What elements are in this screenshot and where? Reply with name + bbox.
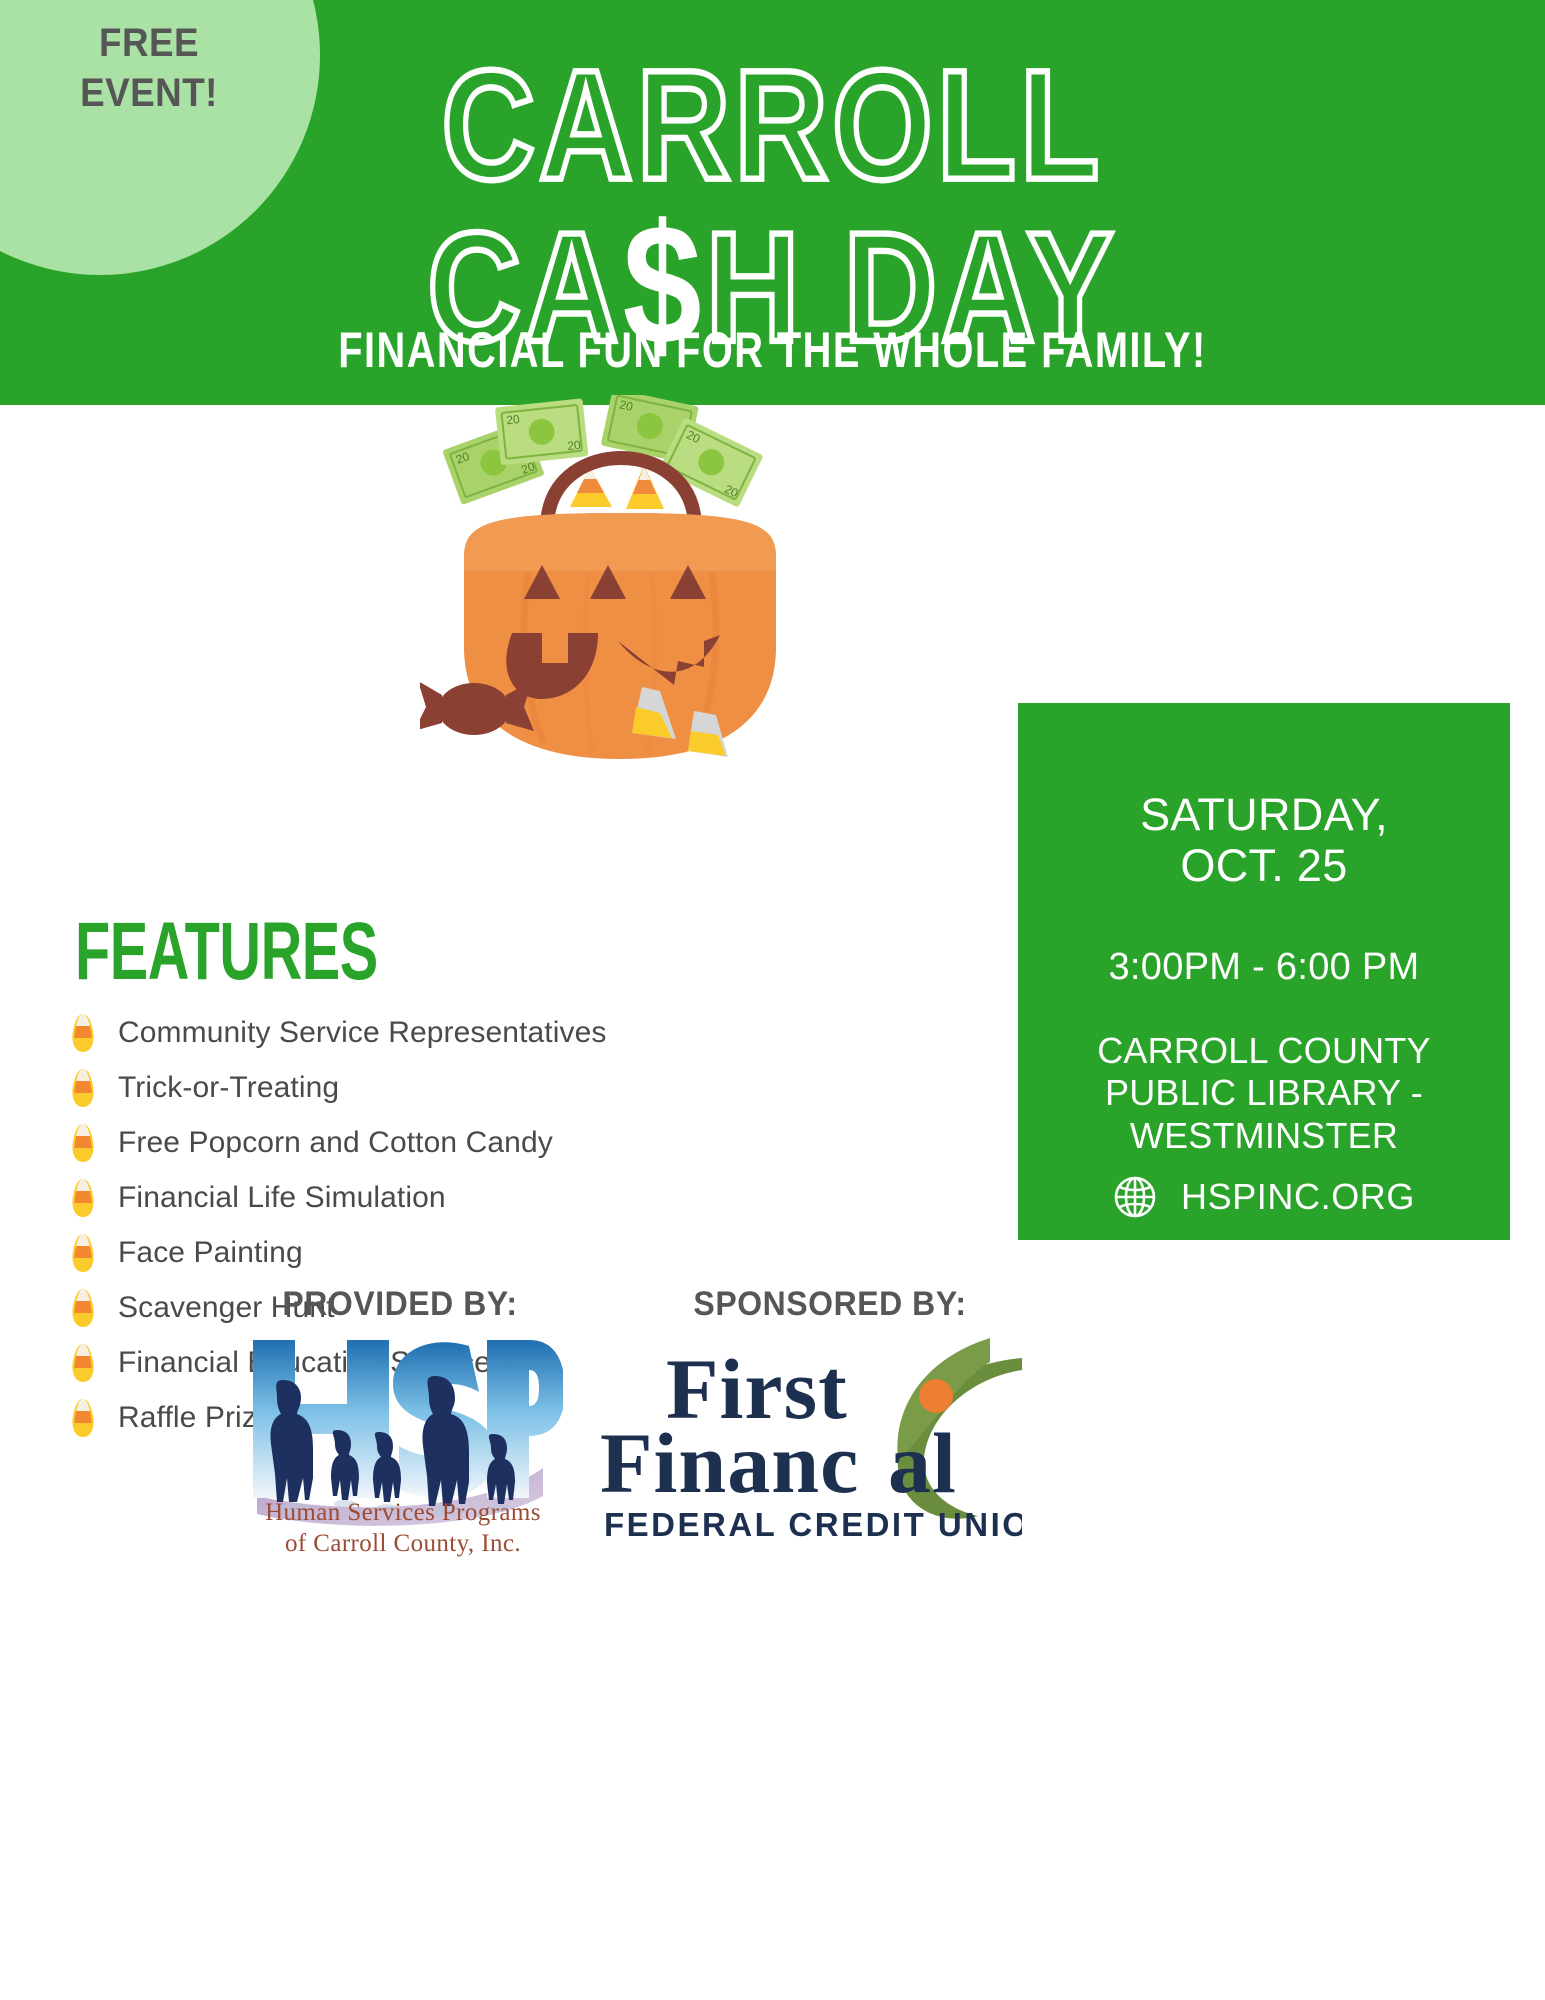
list-item: Community Service Representatives (70, 1005, 790, 1060)
list-item: Free Popcorn and Cotton Candy (70, 1115, 790, 1170)
ff-word-financial: Financ (600, 1415, 859, 1511)
header-banner: FREE EVENT! CARROLL CA$H DAY FINANCIAL F… (0, 0, 1545, 405)
website-url: HSPINC.ORG (1181, 1176, 1415, 1218)
event-details-box: SATURDAY, OCT. 25 3:00PM - 6:00 PM CARRO… (1018, 703, 1510, 1240)
list-item: Financial Life Simulation (70, 1170, 790, 1225)
first-financial-logo-svg: First Financ al FEDERAL CREDIT UNION (592, 1322, 1022, 1552)
candy-corn-bullet-icon (70, 1234, 96, 1272)
pumpkin-bucket-svg: 20 20 20 20 20 20 (420, 395, 820, 795)
website-link[interactable]: HSPINC.ORG (1018, 1175, 1510, 1219)
sponsored-by-label: SPONSORED BY: (614, 1285, 1046, 1324)
candy-corn-bullet-icon (70, 1014, 96, 1052)
candy-corn-bullet-icon (70, 1289, 96, 1327)
title-line-1: CARROLL (0, 52, 1545, 200)
feature-label: Community Service Representatives (118, 1016, 607, 1050)
hsp-caption-line-1: Human Services Programs (228, 1498, 578, 1529)
candy-corn-bullet-icon (70, 1069, 96, 1107)
tagline: FINANCIAL FUN FOR THE WHOLE FAMILY! (23, 322, 1522, 379)
event-date-line-2: OCT. 25 (1018, 840, 1510, 891)
candy-corn-bullet-icon (70, 1179, 96, 1217)
event-time: 3:00PM - 6:00 PM (1018, 946, 1510, 989)
page-title: CARROLL CA$H DAY (0, 52, 1545, 331)
svg-text:20: 20 (567, 438, 582, 453)
hsp-letter-h (253, 1340, 389, 1498)
feature-label: Face Painting (118, 1236, 303, 1270)
hsp-caption: Human Services Programs of Carroll Count… (228, 1498, 578, 1559)
event-location-line-2: PUBLIC LIBRARY - (1018, 1072, 1510, 1114)
hsp-caption-line-2: of Carroll County, Inc. (228, 1529, 578, 1560)
pumpkin-bucket-illustration: 20 20 20 20 20 20 (420, 395, 820, 795)
ff-tagline: FEDERAL CREDIT UNION (604, 1506, 1022, 1543)
first-financial-logo: First Financ al FEDERAL CREDIT UNION (592, 1322, 1022, 1552)
feature-label: Financial Life Simulation (118, 1181, 446, 1215)
feature-label: Trick-or-Treating (118, 1071, 339, 1105)
event-date-line-1: SATURDAY, (1018, 789, 1510, 840)
globe-icon (1113, 1175, 1157, 1219)
candy-corn-bullet-icon (70, 1124, 96, 1162)
features-heading: FEATURES (75, 905, 378, 999)
event-date: SATURDAY, OCT. 25 (1018, 789, 1510, 892)
flyer-root: FREE EVENT! CARROLL CA$H DAY FINANCIAL F… (0, 0, 1545, 2000)
svg-text:20: 20 (506, 412, 521, 427)
event-location: CARROLL COUNTY PUBLIC LIBRARY - WESTMINS… (1018, 1030, 1510, 1157)
ff-orange-dot (919, 1379, 953, 1413)
candy-corn-bullet-icon (70, 1344, 96, 1382)
list-item: Face Painting (70, 1225, 790, 1280)
event-location-line-3: WESTMINSTER (1018, 1115, 1510, 1157)
list-item: Trick-or-Treating (70, 1060, 790, 1115)
ff-word-financial-tail: al (888, 1415, 957, 1511)
event-location-line-1: CARROLL COUNTY (1018, 1030, 1510, 1072)
candy-corn-bullet-icon (70, 1399, 96, 1437)
feature-label: Free Popcorn and Cotton Candy (118, 1126, 553, 1160)
